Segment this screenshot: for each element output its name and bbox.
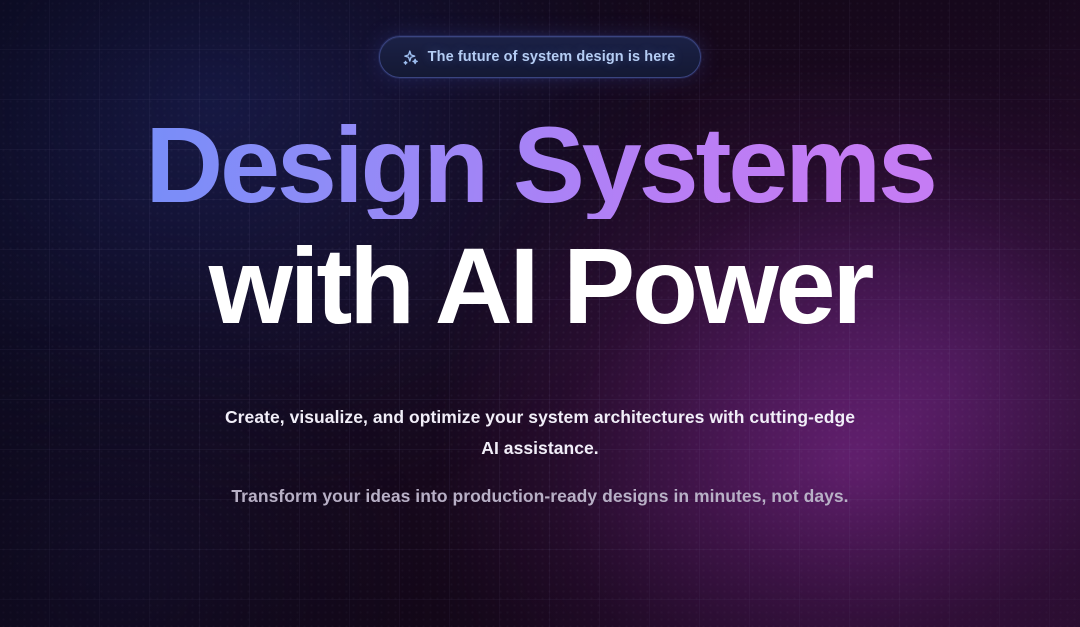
announcement-badge-label: The future of system design is here xyxy=(428,49,676,65)
hero-section: The future of system design is here Desi… xyxy=(0,0,1080,627)
hero-subtitle-primary: Create, visualize, and optimize your sys… xyxy=(220,402,860,464)
hero-headline-line-1: Design Systems xyxy=(0,112,1080,219)
sparkles-icon xyxy=(402,49,419,66)
hero-headline-line-2: with AI Power xyxy=(0,233,1080,340)
hero-headline: Design Systems with AI Power xyxy=(0,112,1080,340)
hero-subtitle-secondary: Transform your ideas into production-rea… xyxy=(231,482,848,510)
announcement-badge[interactable]: The future of system design is here xyxy=(379,36,702,78)
